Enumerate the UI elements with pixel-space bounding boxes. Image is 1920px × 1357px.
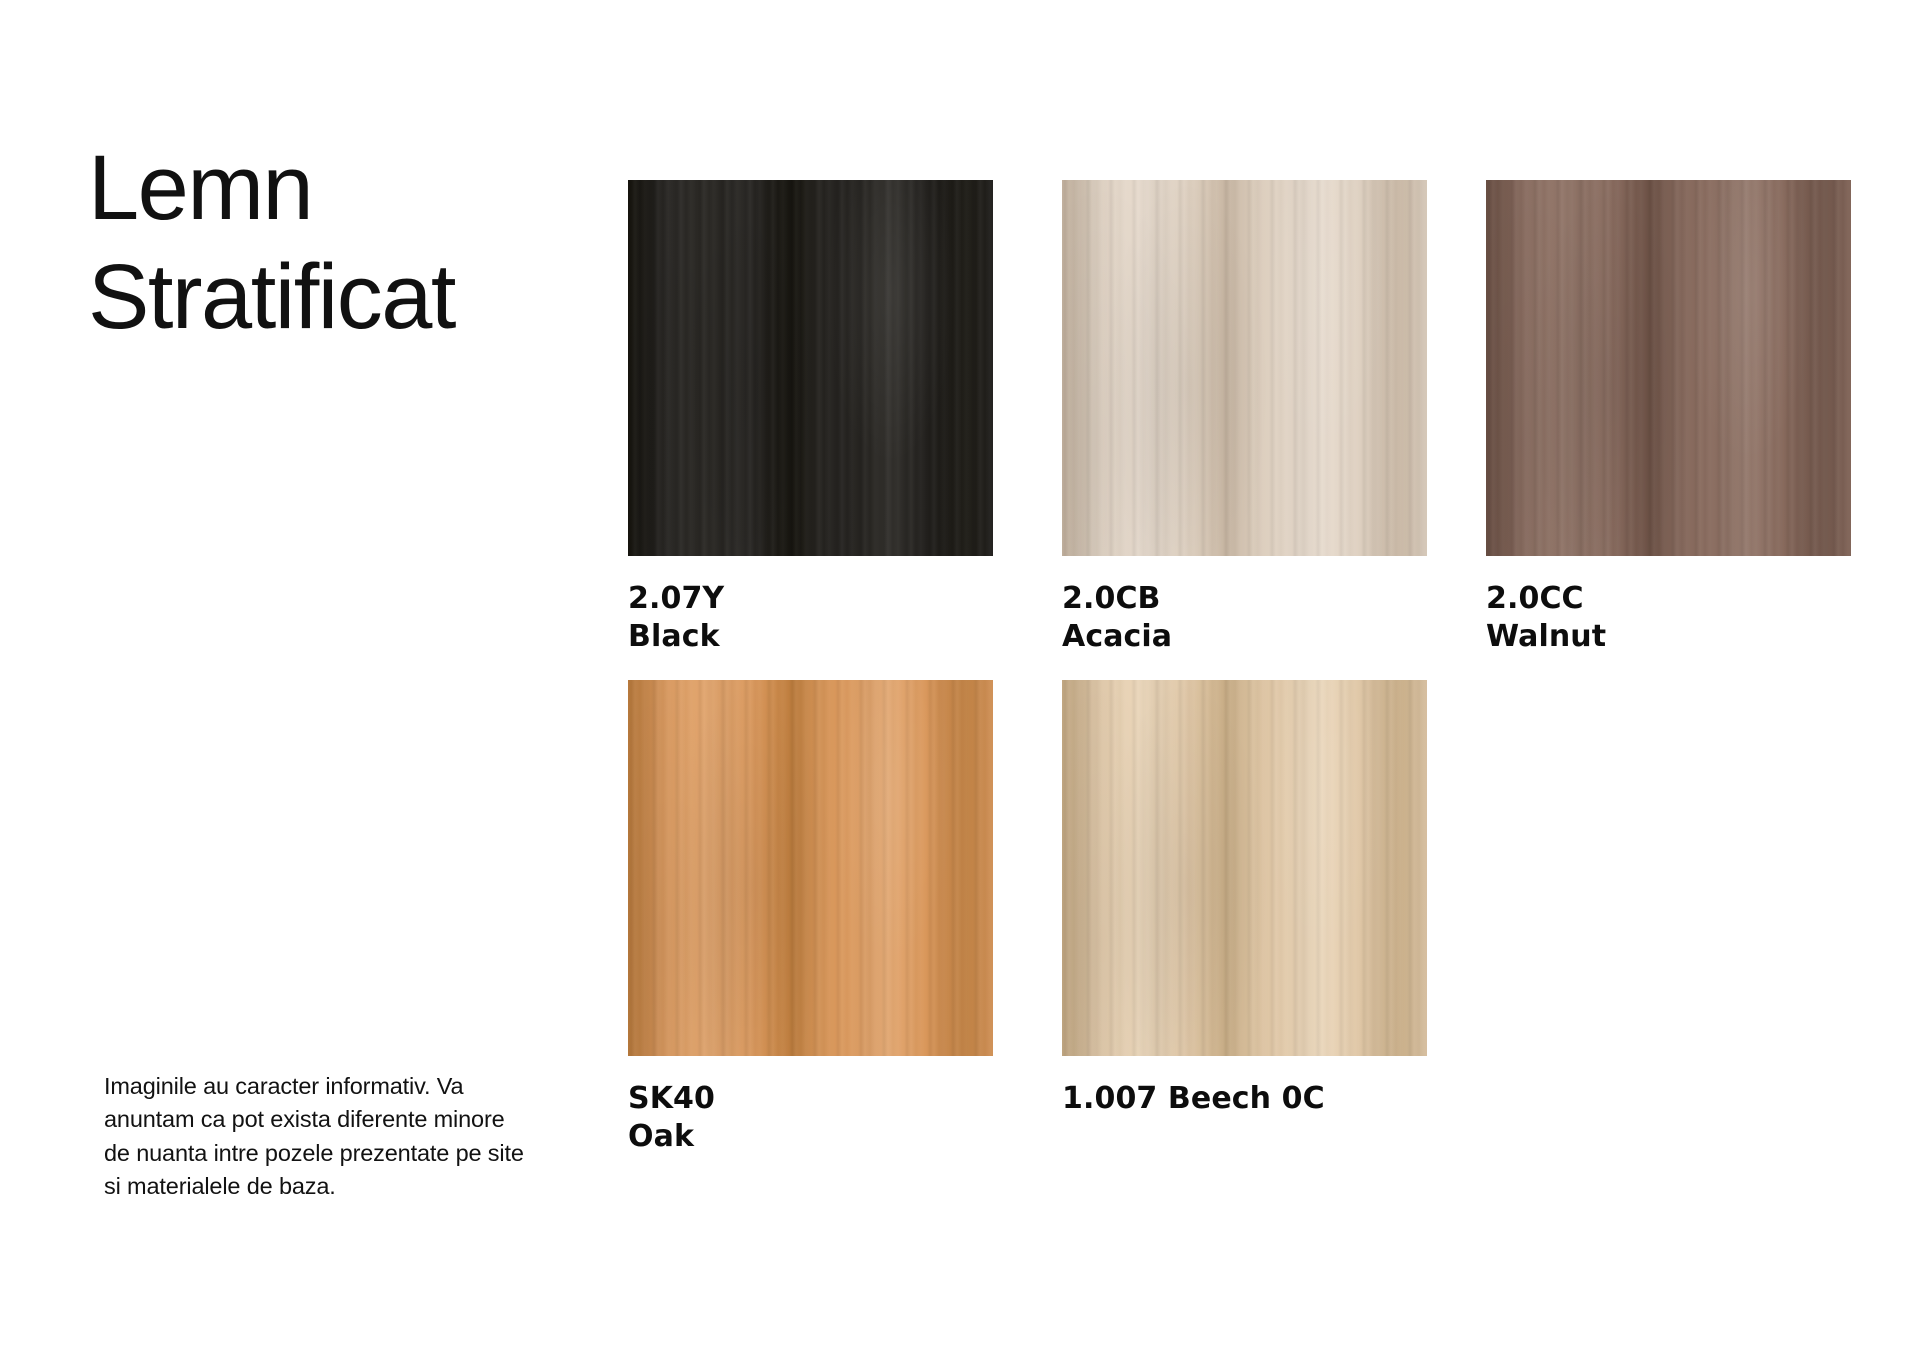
wood-grain-icon bbox=[628, 680, 993, 1056]
swatch-item-walnut[interactable]: 2.0CC Walnut bbox=[1486, 180, 1851, 657]
swatch-label-black: 2.07Y Black bbox=[628, 580, 993, 657]
swatch-item-oak[interactable]: SK40 Oak bbox=[628, 680, 993, 1157]
swatch-chip-walnut[interactable] bbox=[1486, 180, 1851, 556]
swatch-label-acacia: 2.0CB Acacia bbox=[1062, 580, 1427, 657]
swatch-chip-beech[interactable] bbox=[1062, 680, 1427, 1056]
swatch-chip-black[interactable] bbox=[628, 180, 993, 556]
swatch-label-beech: 1.007 Beech 0C bbox=[1062, 1080, 1427, 1118]
wood-grain-icon bbox=[1062, 180, 1427, 556]
swatch-item-black[interactable]: 2.07Y Black bbox=[628, 180, 993, 657]
swatch-item-beech[interactable]: 1.007 Beech 0C bbox=[1062, 680, 1427, 1118]
swatch-grid: 2.07Y Black 2.0CB Acacia 2.0CC Walnut SK… bbox=[628, 180, 1850, 1190]
swatch-label-walnut: 2.0CC Walnut bbox=[1486, 580, 1851, 657]
wood-grain-icon bbox=[1486, 180, 1851, 556]
wood-grain-icon bbox=[628, 680, 993, 1056]
wood-grain-icon bbox=[628, 180, 993, 556]
wood-grain-icon bbox=[1062, 180, 1427, 556]
wood-grain-icon bbox=[1486, 180, 1851, 556]
page-title: Lemn Stratificat bbox=[88, 134, 608, 351]
wood-grain-icon bbox=[628, 180, 993, 556]
wood-grain-icon bbox=[1486, 180, 1851, 556]
wood-grain-icon bbox=[1062, 680, 1427, 1056]
swatch-chip-acacia[interactable] bbox=[1062, 180, 1427, 556]
wood-grain-icon bbox=[628, 680, 993, 1056]
disclaimer-text: Imaginile au caracter informativ. Va anu… bbox=[104, 1070, 524, 1203]
swatch-chip-oak[interactable] bbox=[628, 680, 993, 1056]
wood-grain-icon bbox=[1062, 680, 1427, 1056]
swatch-label-oak: SK40 Oak bbox=[628, 1080, 993, 1157]
wood-grain-icon bbox=[1062, 180, 1427, 556]
wood-grain-icon bbox=[1062, 680, 1427, 1056]
swatch-item-acacia[interactable]: 2.0CB Acacia bbox=[1062, 180, 1427, 657]
wood-grain-icon bbox=[628, 180, 993, 556]
